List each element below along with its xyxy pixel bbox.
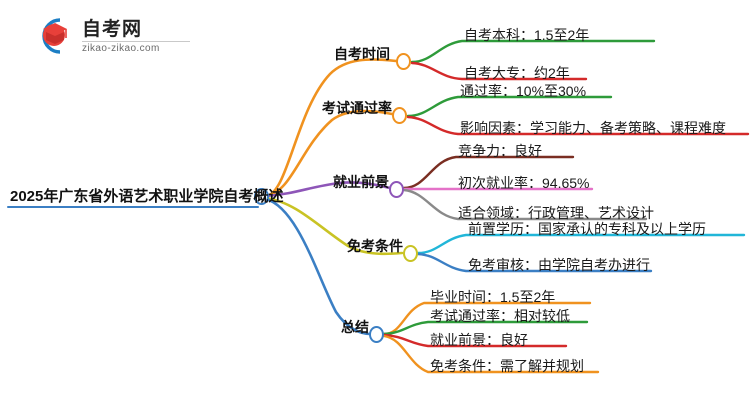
branch-label-mianka-tiaojian[interactable]: 免考条件 — [347, 239, 403, 253]
leaf-label-jingzhengli[interactable]: 竞争力：良好 — [458, 144, 542, 158]
leaf-label-yingxiang-yinsu[interactable]: 影响因素：学习能力、备考策略、课程难度 — [460, 121, 726, 135]
mindmap-canvas: 自考网 zikao-zikao.com — [0, 0, 750, 410]
branch-label-zongjie[interactable]: 总结 — [341, 320, 369, 334]
knob-mianka-tiaojian[interactable] — [403, 245, 418, 262]
leaf-label-qianzhi-xueli[interactable]: 前置学历：国家承认的专科及以上学历 — [468, 222, 706, 236]
leaf-label-biye-shijian[interactable]: 毕业时间：1.5至2年 — [430, 290, 555, 304]
leaf-label-shihe-lingyu[interactable]: 适合领域：行政管理、艺术设计 — [458, 206, 654, 220]
leaf-label-chuci-jiuyelv[interactable]: 初次就业率：94.65% — [458, 176, 589, 190]
leaf-zikao-benke — [412, 41, 654, 62]
leaf-label-zikao-benke[interactable]: 自考本科：1.5至2年 — [464, 28, 589, 42]
leaf-tongguolv — [408, 97, 611, 116]
knob-kaoshi-tonguolv[interactable] — [392, 107, 407, 124]
knob-zikao-shijian[interactable] — [396, 53, 411, 70]
leaf-label-kaoshi-tonguolv-summary[interactable]: 考试通过率：相对较低 — [430, 309, 570, 323]
leaf-label-tongguolv[interactable]: 通过率：10%至30% — [460, 84, 586, 98]
trunk-to-zongjie — [266, 199, 370, 334]
branch-label-zikao-shijian[interactable]: 自考时间 — [334, 47, 390, 61]
leaf-label-mianka-shenhe[interactable]: 免考审核：由学院自考办进行 — [468, 258, 650, 272]
leaf-label-jiuye-qianjing-summary[interactable]: 就业前景：良好 — [430, 333, 528, 347]
branch-label-jiuye-qianjing[interactable]: 就业前景 — [333, 175, 389, 189]
leaf-label-mianka-tiaojian-summary[interactable]: 免考条件：需了解并规划 — [430, 359, 584, 373]
leaf-label-zikao-dazhuan[interactable]: 自考大专：约2年 — [464, 66, 570, 80]
knob-zongjie[interactable] — [369, 326, 384, 343]
leaf-qianzhi-xueli — [418, 235, 744, 253]
knob-jiuye-qianjing[interactable] — [389, 181, 404, 198]
root-node-label[interactable]: 2025年广东省外语艺术职业学院自考概述 — [10, 189, 283, 204]
branch-label-kaoshi-tonguolv[interactable]: 考试通过率 — [322, 101, 392, 115]
